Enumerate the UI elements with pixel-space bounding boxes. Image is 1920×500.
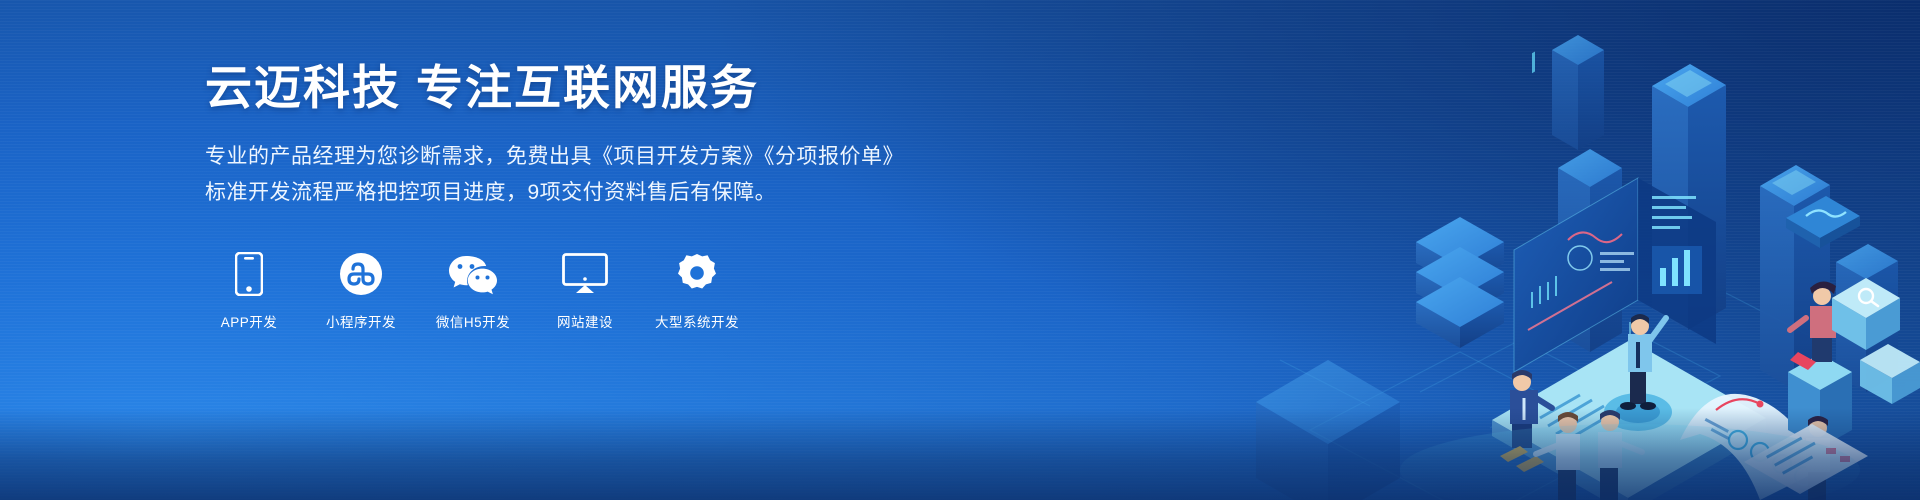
- hero-banner: 云迈科技 专注互联网服务 专业的产品经理为您诊断需求，免费出具《项目开发方案》《…: [0, 0, 1920, 500]
- service-icon-list: APP开发 小程序开发: [205, 251, 965, 331]
- service-label: APP开发: [205, 311, 293, 331]
- service-label: 网站建设: [541, 311, 629, 331]
- bottom-shadow-band: [0, 408, 1920, 500]
- service-item-large-system[interactable]: 大型系统开发: [653, 251, 741, 331]
- hero-content: 云迈科技 专注互联网服务 专业的产品经理为您诊断需求，免费出具《项目开发方案》《…: [205, 62, 965, 331]
- mobile-phone-icon: [205, 251, 293, 297]
- page-title: 云迈科技 专注互联网服务: [205, 62, 965, 115]
- service-item-website[interactable]: 网站建设: [541, 251, 629, 331]
- service-label: 大型系统开发: [653, 311, 741, 331]
- mini-program-icon: [317, 251, 405, 297]
- gear-icon: [653, 251, 741, 297]
- service-label: 微信H5开发: [429, 311, 517, 331]
- service-item-wechat-h5[interactable]: 微信H5开发: [429, 251, 517, 331]
- service-item-mini-program[interactable]: 小程序开发: [317, 251, 405, 331]
- monitor-icon: [541, 251, 629, 297]
- service-label: 小程序开发: [317, 311, 405, 331]
- service-item-app[interactable]: APP开发: [205, 251, 293, 331]
- hero-subtitle: 专业的产品经理为您诊断需求，免费出具《项目开发方案》《分项报价单》 标准开发流程…: [205, 139, 965, 211]
- subtitle-line-2: 标准开发流程严格把控项目进度，9项交付资料售后有保障。: [205, 175, 965, 211]
- wechat-icon: [429, 251, 517, 297]
- subtitle-line-1: 专业的产品经理为您诊断需求，免费出具《项目开发方案》《分项报价单》: [205, 139, 965, 175]
